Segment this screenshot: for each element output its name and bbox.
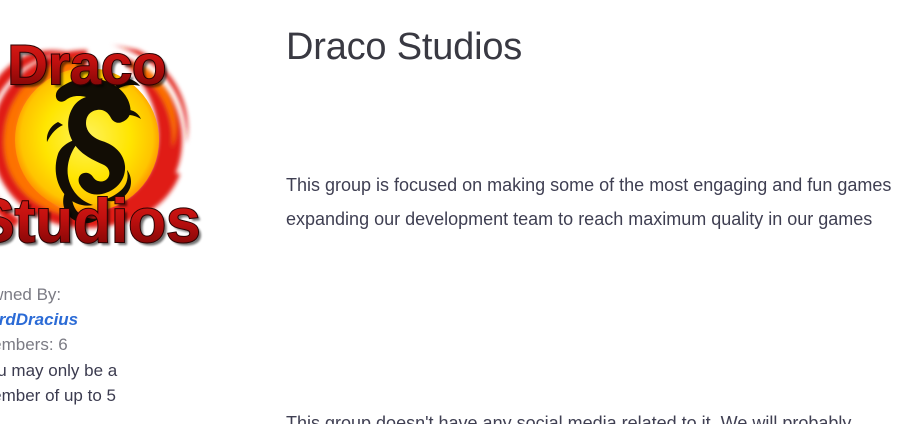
emblem-word-draco: Draco Draco — [8, 33, 170, 99]
group-emblem[interactable]: Draco Draco Studios Studios — [0, 14, 212, 264]
group-description: This group is focused on making some of … — [286, 100, 922, 424]
description-paragraph: This group doesn't have any social media… — [286, 406, 922, 424]
membership-limit-note: You may only be a member of up to 5 — [0, 358, 164, 408]
group-main-content: Draco Studios This group is focused on m… — [286, 0, 922, 424]
page-title: Draco Studios — [286, 26, 522, 69]
description-spacer — [286, 304, 922, 338]
group-owner-link[interactable]: LordDracius — [0, 307, 208, 332]
group-meta: Owned By: LordDracius Members: 6 You may… — [0, 282, 208, 408]
svg-text:Draco: Draco — [8, 33, 167, 96]
owned-by-label: Owned By: — [0, 285, 61, 304]
description-paragraph: This group is focused on making some of … — [286, 168, 922, 236]
group-sidebar: Draco Draco Studios Studios Owned By: Lo… — [0, 0, 250, 424]
svg-text:Studios: Studios — [0, 187, 201, 256]
emblem-word-studios: Studios Studios — [0, 187, 204, 259]
group-members-count: Members: 6 — [0, 332, 208, 357]
group-emblem-image: Draco Draco Studios Studios — [0, 14, 212, 264]
